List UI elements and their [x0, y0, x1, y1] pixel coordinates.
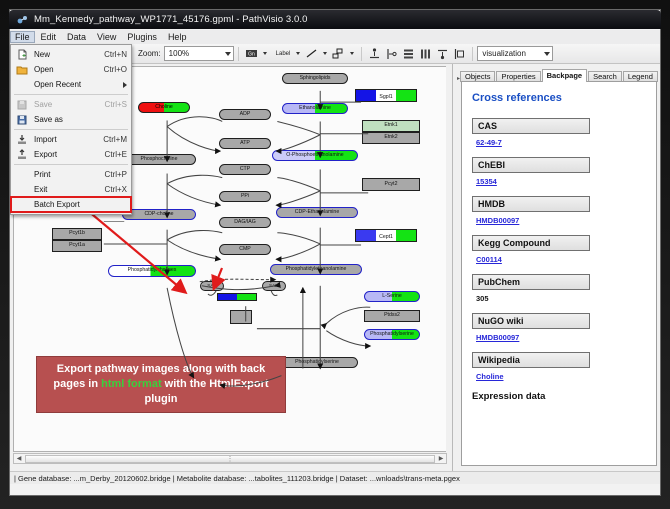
node-label: CDP-choline: [144, 212, 173, 217]
toolbar-separator: [238, 47, 239, 61]
xref-header-pubchem: PubChem: [472, 274, 590, 290]
node-label: PPi: [241, 194, 249, 199]
menu-item-new[interactable]: New Ctrl+N: [11, 47, 131, 62]
menu-item-label: New: [29, 50, 98, 59]
status-text: | Gene database: ...m_Derby_20120602.bri…: [14, 474, 460, 483]
node-etnk2[interactable]: Etnk2: [362, 132, 420, 144]
canvas-horizontal-scrollbar[interactable]: ◀ ⋮ ▶: [13, 453, 447, 464]
visualization-combo[interactable]: visualization: [477, 46, 553, 61]
node-label: Etnk1: [384, 123, 397, 128]
xref-value-cas[interactable]: 62-49-7: [476, 138, 646, 147]
node-phosphatidylcholines[interactable]: Phosphatidylcholines: [108, 265, 196, 277]
node-adp[interactable]: ADP: [219, 109, 271, 120]
menu-separator-2: [14, 129, 128, 130]
save-disk-icon: [15, 99, 29, 111]
xref-header-wikipedia: Wikipedia: [472, 352, 590, 368]
menu-item-import[interactable]: Import Ctrl+M: [11, 132, 131, 147]
node-pcyt1b[interactable]: Pcyt1b: [52, 228, 102, 240]
node-label: CTP: [240, 167, 250, 172]
node-label: Phosphatidylserine: [295, 360, 339, 365]
menu-file[interactable]: File: [10, 31, 35, 43]
node-cept1[interactable]: Cept1: [355, 229, 417, 242]
backpage-panel[interactable]: Cross references CAS 62-49-7 ChEBI 15354…: [461, 81, 657, 466]
menu-item-exit[interactable]: Exit Ctrl+X: [11, 182, 131, 197]
xref-value-wikipedia[interactable]: Choline: [476, 372, 646, 381]
xref-value-chebi[interactable]: 15354: [476, 177, 646, 186]
blank-icon-3: [15, 184, 29, 196]
menu-item-accel: Ctrl+S: [99, 100, 127, 109]
menu-item-batch-export[interactable]: Batch Export: [11, 197, 131, 212]
node-ethanolamine-bottom[interactable]: Phosphatidylserine: [364, 329, 420, 340]
node-choline-top[interactable]: Choline: [138, 102, 190, 113]
node-label: Sgpl1: [356, 94, 416, 100]
node-etnk1[interactable]: Etnk1: [362, 120, 420, 132]
node-label: Cept1: [356, 234, 416, 240]
node-pemt[interactable]: [230, 310, 252, 324]
node-ppi[interactable]: PPi: [219, 191, 271, 202]
shape-icon[interactable]: [331, 46, 346, 61]
blank-icon-2: [15, 169, 29, 181]
callout-highlight: html format: [101, 378, 162, 390]
menu-item-label: Open Recent: [29, 80, 119, 89]
node-label: CDP-Ethanolamine: [295, 210, 339, 215]
menu-item-label: Batch Export: [29, 200, 127, 209]
node-label: Etnk2: [384, 135, 397, 140]
node-label: DAG/IAG: [234, 220, 256, 225]
callout-part2: with the HtmlExport plugin: [145, 378, 269, 405]
node-cdp-ethanolamine[interactable]: CDP-Ethanolamine: [276, 207, 358, 218]
node-label: Phosphatidylethanolamine: [286, 267, 347, 272]
node-label: SAM: [269, 284, 279, 289]
align-top-icon[interactable]: [367, 46, 382, 61]
node-cdp-choline[interactable]: CDP-choline: [122, 209, 196, 220]
node-phosphatidylethanolamine[interactable]: Phosphatidylethanolamine: [270, 264, 362, 275]
menu-bar[interactable]: File Edit Data View Plugins Help: [10, 30, 660, 44]
new-file-icon: [15, 49, 29, 61]
save-as-disk-icon: [15, 114, 29, 126]
menu-plugins[interactable]: Plugins: [122, 31, 162, 43]
status-bar: | Gene database: ...m_Derby_20120602.bri…: [10, 471, 660, 484]
toolbar-separator-3: [472, 47, 473, 61]
zoom-combo[interactable]: 100%: [164, 46, 234, 61]
menu-separator-3: [14, 164, 128, 165]
node-label: Phosphatidylcholines: [128, 268, 177, 273]
title-bar: Mm_Kennedy_pathway_WP1771_45176.gpml - P…: [9, 10, 661, 29]
app-window: Mm_Kennedy_pathway_WP1771_45176.gpml - P…: [0, 0, 670, 509]
node-label: Choline: [155, 105, 173, 110]
menu-item-accel: Ctrl+P: [99, 170, 127, 179]
sidebar-tabstrip[interactable]: ▸ Objects Properties Backpage Search Leg…: [457, 68, 657, 82]
node-label: O-Phosphoethanolamine: [286, 153, 343, 158]
xref-header-hmdb: HMDB: [472, 196, 590, 212]
menu-item-accel: Ctrl+E: [99, 150, 127, 159]
shape-dropdown-icon[interactable]: [350, 52, 354, 55]
node-pcyt1a[interactable]: Pcyt1a: [52, 240, 102, 252]
zoom-label: Zoom:: [138, 49, 161, 58]
xref-value-hmdb[interactable]: HMDB00097: [476, 216, 646, 225]
menu-data[interactable]: Data: [62, 31, 91, 43]
file-menu-dropdown[interactable]: New Ctrl+N Open Ctrl+O Open Recent Save …: [10, 44, 132, 215]
pathvisio-app-icon: [17, 14, 28, 25]
chip-expression-pc: [217, 293, 257, 301]
menu-item-accel: Ctrl+M: [97, 135, 127, 144]
label-dropdown-icon[interactable]: [296, 52, 300, 55]
node-label: Sphingolipids: [300, 76, 331, 81]
menu-item-accel: Ctrl+O: [98, 65, 127, 74]
zoom-value: 100%: [169, 49, 189, 58]
node-cmp[interactable]: CMP: [219, 244, 271, 255]
menu-item-label: Export: [29, 150, 99, 159]
node-label: L-Serine: [382, 294, 402, 299]
node-label: ADP: [240, 112, 251, 117]
node-phosphocholine[interactable]: Phosphocholine: [122, 154, 196, 165]
svg-text:Gn: Gn: [248, 52, 255, 58]
menu-item-label: Import: [29, 135, 97, 144]
align-middle-icon[interactable]: [384, 46, 399, 61]
toolbar-separator-2: [361, 47, 362, 61]
scroll-thumb[interactable]: ⋮: [25, 455, 435, 463]
node-pcyt2[interactable]: Pcyt2: [362, 178, 420, 191]
xref-header-kegg: Kegg Compound: [472, 235, 590, 251]
datanode-dropdown-icon[interactable]: [263, 52, 267, 55]
callout-text: Export pathway images along with back pa…: [43, 362, 279, 407]
menu-separator: [14, 94, 128, 95]
menu-item-print[interactable]: Print Ctrl+P: [11, 167, 131, 182]
menu-item-save-as[interactable]: Save as: [11, 112, 131, 127]
menu-item-open[interactable]: Open Ctrl+O: [11, 62, 131, 77]
node-label: CMP: [239, 247, 251, 252]
node-label: Ethanolamine: [299, 106, 331, 111]
xref-value-kegg[interactable]: C00114: [476, 255, 646, 264]
canvas-vertical-scroll-track[interactable]: [446, 66, 452, 452]
sidebar: ▸ Objects Properties Backpage Search Leg…: [453, 64, 660, 471]
node-label: Phosphatidylserine: [370, 332, 414, 337]
xref-value-nugo[interactable]: HMDB00097: [476, 333, 646, 342]
chevron-down-icon: [225, 52, 231, 56]
menu-item-open-recent[interactable]: Open Recent: [11, 77, 131, 92]
xref-header-chebi: ChEBI: [472, 157, 590, 173]
xref-header-cas: CAS: [472, 118, 590, 134]
node-sphingolipids[interactable]: Sphingolipids: [282, 73, 348, 84]
blank-icon: [15, 79, 29, 91]
node-l-serine[interactable]: L-Serine: [364, 291, 420, 302]
align-bottom-icon[interactable]: [435, 46, 450, 61]
window-title: Mm_Kennedy_pathway_WP1771_45176.gpml - P…: [34, 14, 308, 25]
menu-item-label: Save as: [29, 115, 121, 124]
visualization-value: visualization: [482, 49, 526, 58]
menu-item-label: Open: [29, 65, 98, 74]
menu-item-label: Save: [29, 100, 99, 109]
menu-item-save: Save Ctrl+S: [11, 97, 131, 112]
node-label: Pcyt1b: [69, 231, 85, 236]
menu-item-accel: Ctrl+N: [98, 50, 127, 59]
node-sgpl1[interactable]: Sgpl1: [355, 89, 417, 102]
node-dagiag[interactable]: DAG/IAG: [219, 217, 271, 228]
node-label: Ptdss2: [384, 313, 400, 318]
node-sam[interactable]: SAM: [262, 281, 286, 291]
align-left-icon[interactable]: [452, 46, 467, 61]
expression-data-heading: Expression data: [472, 391, 646, 402]
scroll-right-arrow-icon[interactable]: ▶: [436, 454, 446, 463]
datanode-icon[interactable]: Gn: [244, 46, 259, 61]
chevron-down-icon-2: [544, 52, 550, 56]
align-columns-icon[interactable]: [418, 46, 433, 61]
node-label: ATP: [240, 141, 250, 146]
tab-backpage[interactable]: Backpage: [542, 69, 587, 82]
node-label: Pcyt2: [385, 182, 398, 187]
backpage-scroll-track[interactable]: [650, 83, 655, 464]
menu-help[interactable]: Help: [163, 31, 192, 43]
node-label: Pcyt1a: [69, 243, 85, 248]
menu-item-export[interactable]: Export Ctrl+E: [11, 147, 131, 162]
menu-item-label: Exit: [29, 185, 99, 194]
node-o-phosphoethanolamine[interactable]: O-Phosphoethanolamine: [272, 150, 358, 161]
menu-item-accel: Ctrl+X: [99, 185, 127, 194]
line-dropdown-icon[interactable]: [323, 52, 327, 55]
import-icon: [15, 134, 29, 146]
node-phosphatidylserine[interactable]: Phosphatidylserine: [276, 357, 358, 368]
node-sah[interactable]: SAH: [200, 281, 224, 291]
submenu-arrow-icon: [123, 82, 127, 88]
align-rows-icon[interactable]: [401, 46, 416, 61]
scroll-left-arrow-icon[interactable]: ◀: [14, 454, 24, 463]
label-icon[interactable]: Label: [276, 51, 291, 57]
node-label: SAH: [207, 284, 216, 289]
node-ctp[interactable]: CTP: [219, 164, 271, 175]
node-atp[interactable]: ATP: [219, 138, 271, 149]
xref-value-pubchem: 305: [476, 294, 646, 303]
xref-header-nugo: NuGO wiki: [472, 313, 590, 329]
line-icon[interactable]: [304, 46, 319, 61]
menu-view[interactable]: View: [92, 31, 121, 43]
export-icon: [15, 149, 29, 161]
menu-item-label: Print: [29, 170, 99, 179]
annotation-callout: Export pathway images along with back pa…: [36, 356, 286, 413]
open-folder-icon: [15, 64, 29, 76]
node-ethanolamine-top[interactable]: Ethanolamine: [282, 103, 348, 114]
blank-icon-4: [15, 199, 29, 211]
menu-edit[interactable]: Edit: [36, 31, 62, 43]
node-label: Phosphocholine: [141, 157, 178, 162]
backpage-heading: Cross references: [472, 92, 646, 104]
node-ptdss2[interactable]: Ptdss2: [364, 310, 420, 322]
